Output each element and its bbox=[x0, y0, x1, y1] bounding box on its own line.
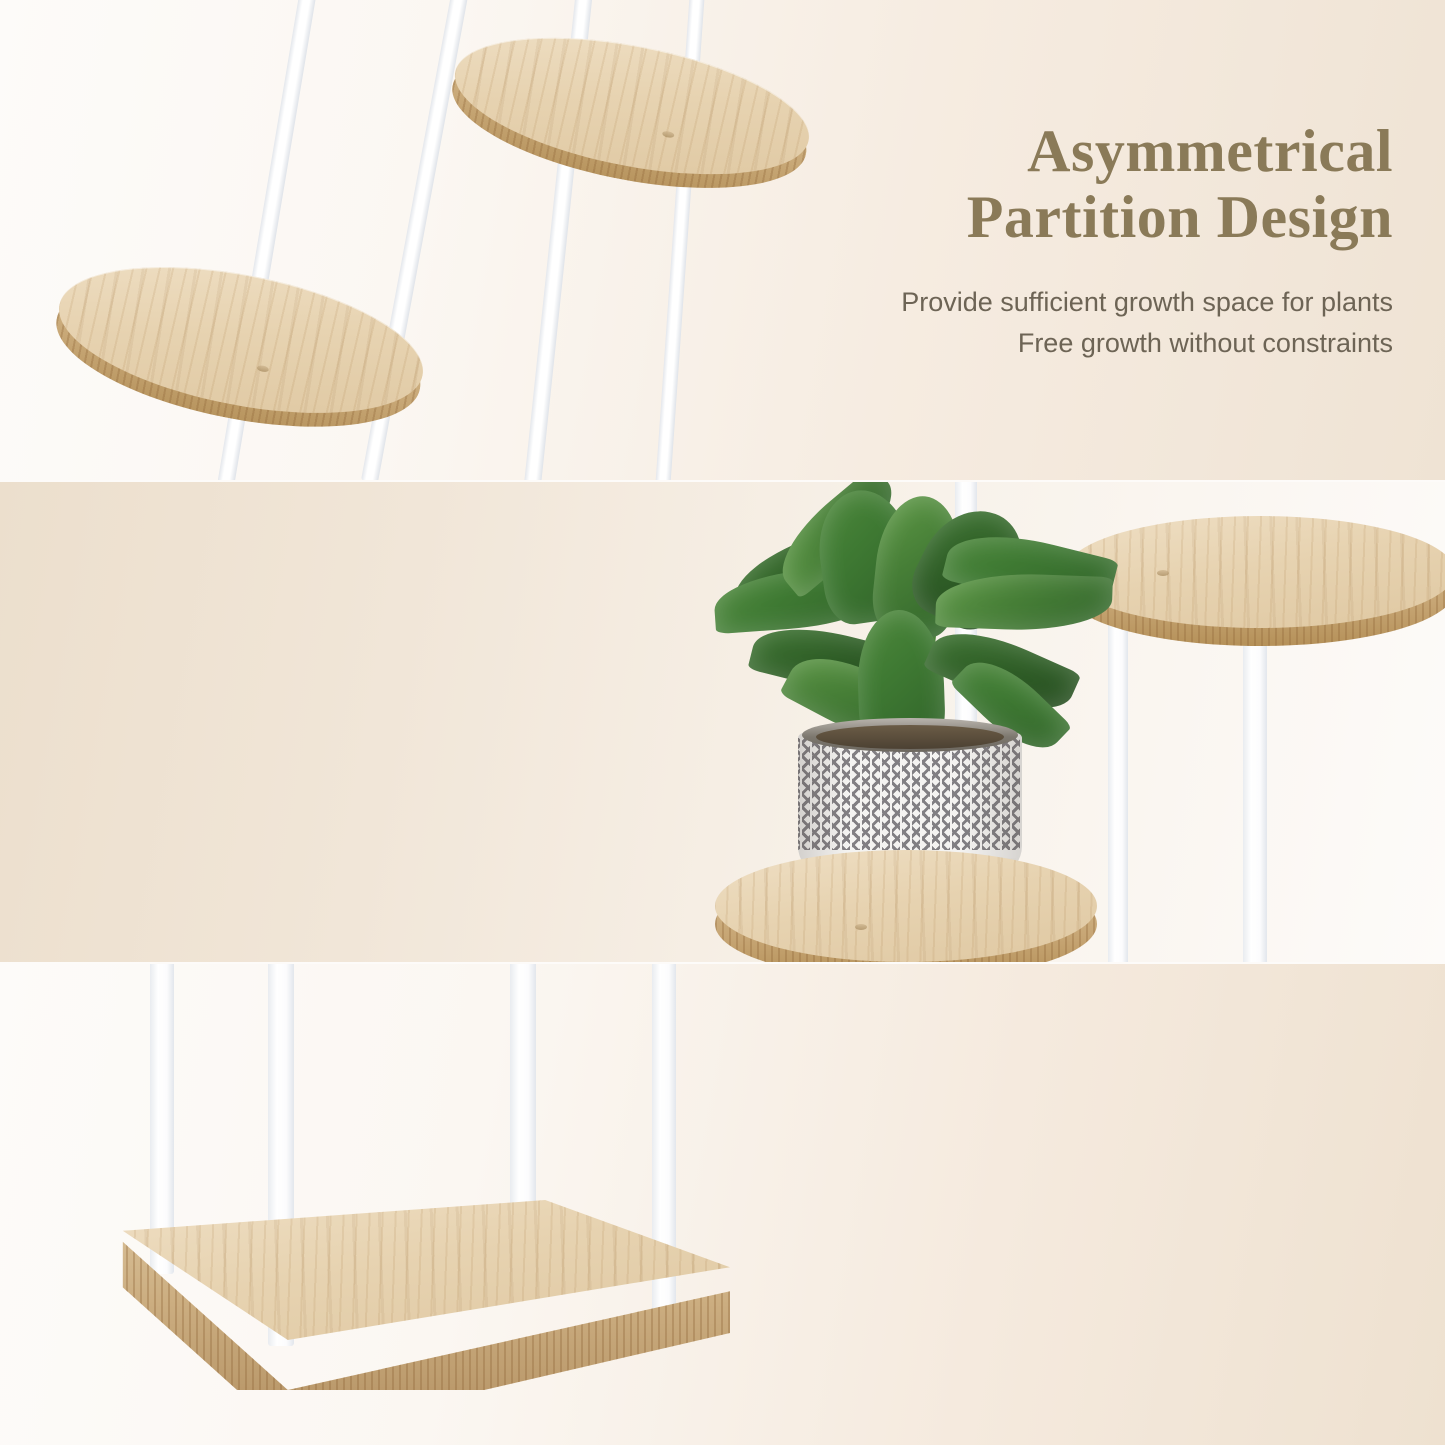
feature-panel-stable-structure: Stable Structure It's more reassuring no… bbox=[0, 482, 1445, 962]
panel-heading-line-1: Asymmetrical bbox=[1027, 118, 1393, 184]
feature-panel-asymmetrical-partition: Asymmetrical Partition Design Provide su… bbox=[0, 0, 1445, 480]
panel-subtext-line-2: Free growth without constraints bbox=[1018, 328, 1393, 358]
screw-icon bbox=[855, 924, 867, 930]
panel-subtext-line-1: Provide sufficient growth space for plan… bbox=[901, 287, 1393, 317]
product-photo-square-base bbox=[0, 964, 1445, 1445]
feature-text-block: Asymmetrical Partition Design Provide su… bbox=[753, 118, 1393, 364]
infographic-sheet: Asymmetrical Partition Design Provide su… bbox=[0, 0, 1445, 1445]
oval-wood-shelf-lower bbox=[47, 241, 435, 439]
feature-panel-widened-floor: Widened Floor Better maintain stability … bbox=[0, 964, 1445, 1445]
product-photo-plant-on-shelf bbox=[0, 482, 1445, 962]
round-wood-shelf-lower bbox=[715, 850, 1097, 962]
pot-soil bbox=[816, 725, 1004, 749]
panel-heading: Asymmetrical Partition Design bbox=[753, 118, 1393, 250]
panel-heading-line-2: Partition Design bbox=[967, 184, 1393, 250]
shelf-surface bbox=[715, 850, 1097, 962]
panel-subtext: Provide sufficient growth space for plan… bbox=[753, 282, 1393, 364]
screw-icon bbox=[1157, 570, 1169, 576]
square-wood-base bbox=[70, 1200, 730, 1410]
